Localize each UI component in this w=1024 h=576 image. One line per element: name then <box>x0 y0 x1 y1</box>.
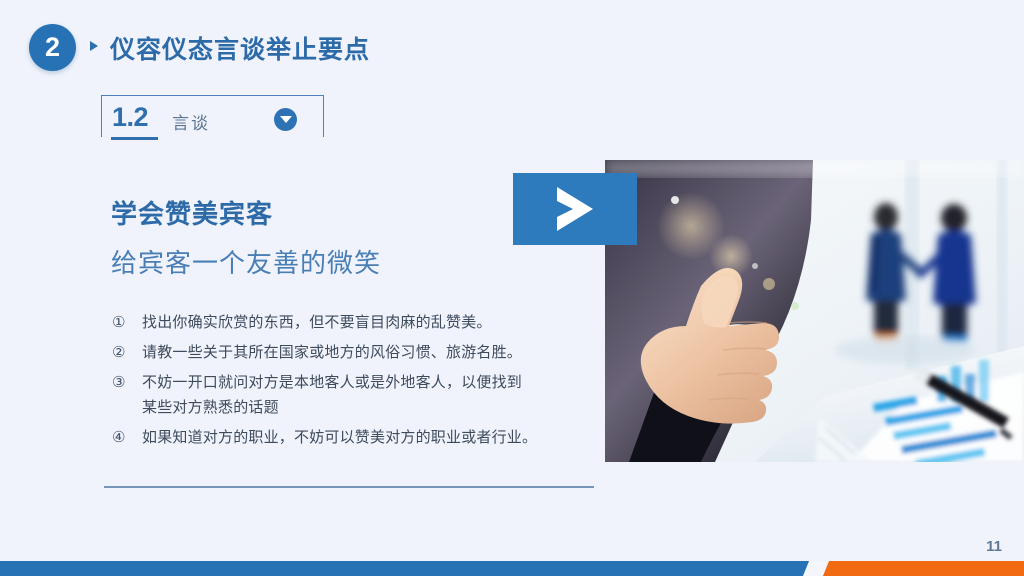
list-item: ① 找出你确实欣赏的东西，但不要盲目肉麻的乱赞美。 <box>112 310 612 335</box>
list-item-text-group: 不妨一开口就问对方是本地客人或是外地客人，以便找到 某些对方熟悉的话题 <box>142 370 522 420</box>
list-item-marker: ④ <box>112 425 142 450</box>
lead-heading-light: 给宾客一个友善的微笑 <box>111 243 381 280</box>
slide: 2 仪容仪态言谈举止要点 1.2 言谈 学会赞美宾客 给宾客一个友善的微笑 ① … <box>0 0 1024 576</box>
list-item-marker: ① <box>112 310 142 335</box>
list-item: ④ 如果知道对方的职业，不妨可以赞美对方的职业或者行业。 <box>112 425 612 450</box>
page-number: 11 <box>986 538 1002 555</box>
list-item-text: 如果知道对方的职业，不妨可以赞美对方的职业或者行业。 <box>142 425 537 450</box>
subsection-number: 1.2 <box>112 104 148 131</box>
subsection-label: 言谈 <box>172 109 210 134</box>
list-item-marker: ② <box>112 340 142 365</box>
photo-thumbs-up-business <box>605 160 1024 462</box>
chevron-right-icon <box>513 173 637 245</box>
caret-right-icon <box>90 41 98 51</box>
page-title: 仪容仪态言谈举止要点 <box>110 30 370 66</box>
list-item: ② 请教一些关于其所在国家或地方的风俗习惯、旅游名胜。 <box>112 340 612 365</box>
content-divider <box>104 486 594 488</box>
list-item-text: 找出你确实欣赏的东西，但不要盲目肉麻的乱赞美。 <box>142 310 492 335</box>
list-item-text: 不妨一开口就问对方是本地客人或是外地客人，以便找到 <box>142 374 522 391</box>
subsection-underline <box>111 137 158 140</box>
list-item-marker: ③ <box>112 370 142 395</box>
list-item-text-continuation: 某些对方熟悉的话题 <box>142 395 522 420</box>
chevron-down-icon[interactable] <box>274 108 297 131</box>
footer-bar-orange <box>812 561 1024 576</box>
list-item: ③ 不妨一开口就问对方是本地客人或是外地客人，以便找到 某些对方熟悉的话题 <box>112 370 612 420</box>
list-item-text: 请教一些关于其所在国家或地方的风俗习惯、旅游名胜。 <box>142 340 522 365</box>
footer-bar-blue <box>0 561 824 576</box>
lead-heading-bold: 学会赞美宾客 <box>111 194 273 231</box>
bullet-list: ① 找出你确实欣赏的东西，但不要盲目肉麻的乱赞美。 ② 请教一些关于其所在国家或… <box>112 310 612 455</box>
section-number-badge: 2 <box>29 24 76 71</box>
section-number-text: 2 <box>45 34 60 61</box>
